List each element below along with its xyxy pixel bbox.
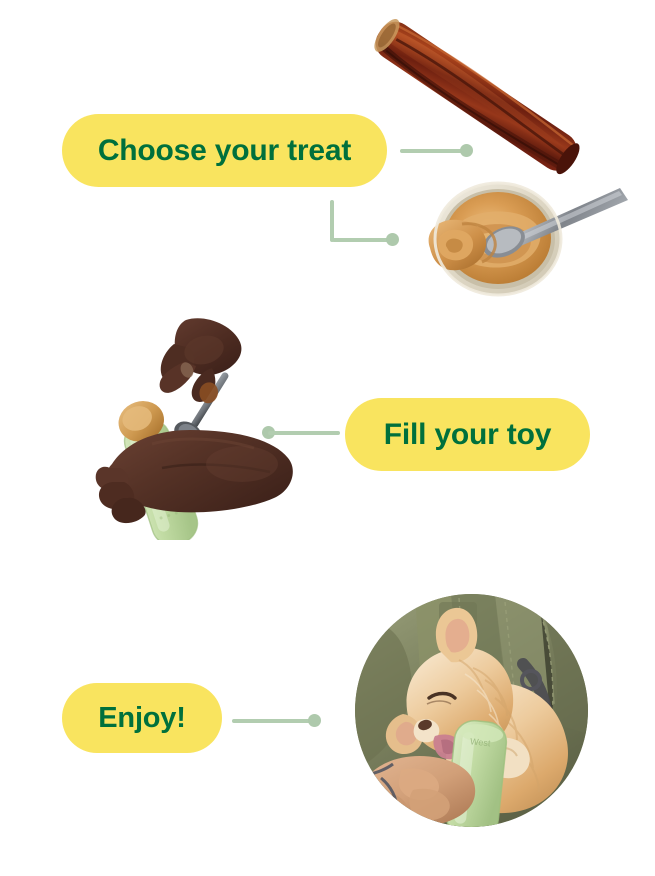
- step-label-choose-your-treat[interactable]: Choose your treat: [62, 114, 387, 187]
- connector-choose-to-bully-stick: [400, 143, 480, 161]
- dog-enjoying-toy-photo: West: [355, 594, 588, 827]
- how-it-works-infographic: Choose your treat: [0, 0, 655, 876]
- dog-enjoying-icon: West: [355, 594, 588, 827]
- connector-endpoint-dot: [386, 233, 399, 246]
- connector-line-segment-vertical: [330, 200, 334, 242]
- connector-enjoy-to-dog: [232, 713, 327, 731]
- connector-endpoint-dot: [460, 144, 473, 157]
- step-label-enjoy[interactable]: Enjoy!: [62, 683, 222, 753]
- connector-line-segment: [232, 719, 315, 723]
- connector-hands-to-fill: [262, 425, 352, 443]
- peanut-butter-jar-icon: [412, 176, 637, 301]
- connector-line-segment-horizontal: [332, 238, 394, 242]
- step-label-fill-your-toy[interactable]: Fill your toy: [345, 398, 590, 471]
- connector-choose-to-peanut-butter: [330, 200, 405, 252]
- connector-endpoint-dot: [308, 714, 321, 727]
- connector-line-segment: [400, 149, 468, 153]
- peanut-butter-photo: [412, 176, 637, 301]
- connector-line-segment: [268, 431, 340, 435]
